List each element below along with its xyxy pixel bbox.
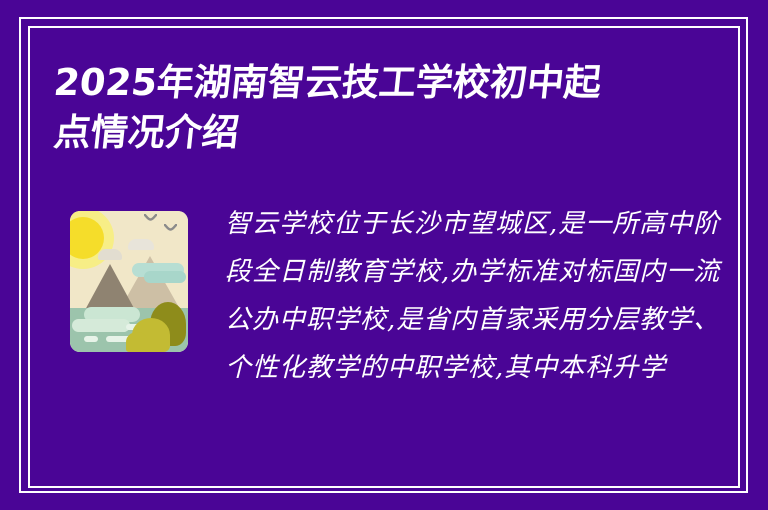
low-cloud-icon xyxy=(72,319,130,332)
sky-cloud-icon xyxy=(144,271,186,283)
snow-cap-front xyxy=(98,249,122,260)
mountain-landscape-illustration xyxy=(70,211,188,352)
frame-mask-bottom xyxy=(0,494,768,510)
bird-icon xyxy=(144,214,155,220)
body-paragraph: 智云学校位于长沙市望城区,是一所高中阶段全日制教育学校,办学标准对标国内一流公办… xyxy=(225,200,730,392)
poster-canvas: 2025年湖南智云技工学校初中起 点情况介绍 xyxy=(0,0,768,510)
snow-cap-back xyxy=(128,239,154,250)
mist-streak xyxy=(84,336,98,342)
page-title-line-1: 2025年湖南智云技工学校初中起 xyxy=(51,58,696,108)
page-title: 2025年湖南智云技工学校初中起 点情况介绍 xyxy=(54,58,694,158)
bird-icon xyxy=(164,224,175,230)
page-title-line-2: 点情况介绍 xyxy=(51,108,696,158)
content-row: 智云学校位于长沙市望城区,是一所高中阶段全日制教育学校,办学标准对标国内一流公办… xyxy=(0,200,768,470)
bush-small-shape xyxy=(126,332,148,352)
